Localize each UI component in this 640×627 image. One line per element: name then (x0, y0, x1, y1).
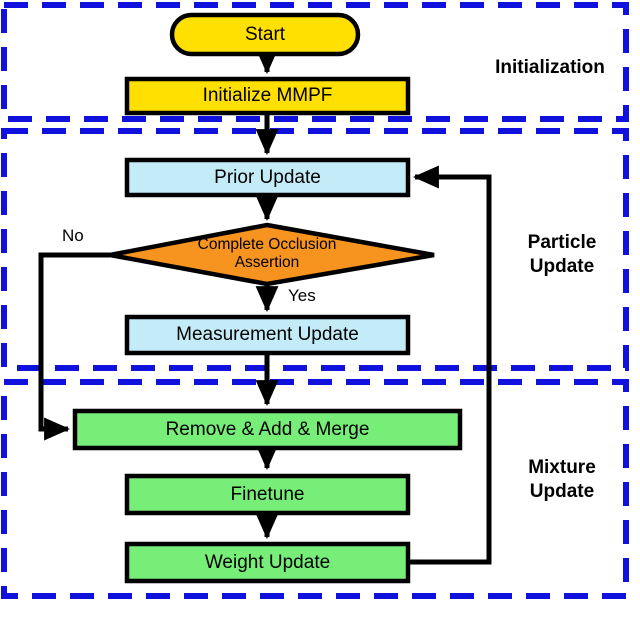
node-shape-start[interactable] (172, 15, 358, 54)
group-label-initialization: Initialization (480, 56, 620, 80)
node-shape-prior-update[interactable] (127, 160, 408, 195)
group-label-particle-update-line-2: Update (492, 255, 632, 279)
group-label-mixture-update-line-2: Update (492, 480, 632, 504)
node-shape-weight-update[interactable] (127, 544, 408, 581)
node-shape-complete-occlusion-assertion[interactable] (110, 225, 434, 284)
edge-decision-no-to-remove-add-merge (41, 255, 110, 429)
node-shape-measurement-update[interactable] (127, 317, 408, 353)
flowchart-canvas: Start Initialize MMPF Prior Update Compl… (0, 0, 640, 627)
node-shape-finetune[interactable] (127, 476, 408, 513)
group-label-particle-update: Particle Update (492, 231, 632, 279)
node-shape-remove-add-merge[interactable] (75, 411, 460, 448)
node-shape-initialize-mmpf[interactable] (127, 79, 408, 113)
group-label-mixture-update-line-1: Mixture (492, 456, 632, 480)
edge-label-no: No (62, 226, 84, 246)
group-label-particle-update-line-1: Particle (492, 231, 632, 255)
group-label-mixture-update: Mixture Update (492, 456, 632, 504)
group-label-initialization-line-1: Initialization (480, 56, 620, 80)
flowchart-graphics (0, 0, 640, 627)
edge-label-yes: Yes (288, 286, 316, 306)
